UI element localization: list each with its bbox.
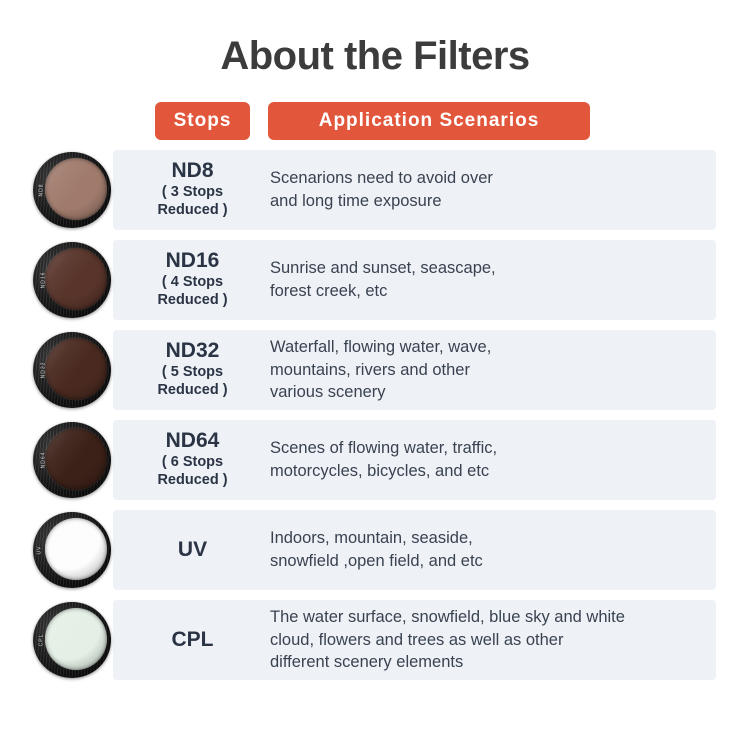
stops-reduction-line-2: Reduced ) — [157, 382, 227, 400]
scenario-line: The water surface, snowfield, blue sky a… — [270, 606, 720, 629]
table-row: ND64ND64( 6 StopsReduced )Scenes of flow… — [0, 420, 750, 500]
scenario-line: Scenarions need to avoid over — [270, 167, 720, 190]
filter-name: UV — [178, 539, 207, 562]
scenario-cell: Scenarions need to avoid overand long ti… — [270, 150, 720, 230]
table-row: ND8ND8( 3 StopsReduced )Scenarions need … — [0, 150, 750, 230]
filter-name: ND32 — [166, 340, 220, 363]
nd64-filter-photo: ND64 — [33, 422, 111, 498]
stops-cell: ND32( 5 StopsReduced ) — [125, 330, 260, 410]
stops-cell: CPL — [125, 600, 260, 680]
header-application-scenarios: Application Scenarios — [268, 102, 590, 140]
stops-reduction-line-2: Reduced ) — [157, 472, 227, 490]
filter-name: ND64 — [166, 430, 220, 453]
scenario-line: snowfield ,open field, and etc — [270, 550, 720, 573]
scenario-cell: Waterfall, flowing water, wave,mountains… — [270, 330, 720, 410]
filter-name: ND8 — [171, 160, 213, 183]
stops-reduction-line-1: ( 6 Stops — [162, 454, 223, 472]
scenario-line: Waterfall, flowing water, wave, — [270, 336, 720, 359]
nd16-filter-photo: ND16 — [33, 242, 111, 318]
scenario-cell: Scenes of flowing water, traffic,motorcy… — [270, 420, 720, 500]
scenario-line: motorcycles, bicycles, and etc — [270, 460, 720, 483]
uv-filter-photo: UV — [33, 512, 111, 588]
filter-ring-engraving: UV — [36, 546, 42, 555]
scenario-line: various scenery — [270, 381, 720, 404]
stops-cell: ND64( 6 StopsReduced ) — [125, 420, 260, 500]
header-stops: Stops — [155, 102, 250, 140]
table-row: ND32ND32( 5 StopsReduced )Waterfall, flo… — [0, 330, 750, 410]
filter-name: ND16 — [166, 250, 220, 273]
stops-reduction-line-1: ( 3 Stops — [162, 184, 223, 202]
scenario-line: Sunrise and sunset, seascape, — [270, 257, 720, 280]
scenario-line: cloud, flowers and trees as well as othe… — [270, 629, 720, 652]
filter-glass — [45, 248, 107, 310]
stops-reduction-line-1: ( 4 Stops — [162, 274, 223, 292]
scenario-line: Indoors, mountain, seaside, — [270, 527, 720, 550]
scenario-line: forest creek, etc — [270, 280, 720, 303]
stops-reduction-line-2: Reduced ) — [157, 292, 227, 310]
filter-name: CPL — [172, 629, 214, 652]
scenario-line: and long time exposure — [270, 190, 720, 213]
stops-reduction-line-2: Reduced ) — [157, 202, 227, 220]
filter-table: ND8ND8( 3 StopsReduced )Scenarions need … — [0, 150, 750, 680]
stops-cell: ND8( 3 StopsReduced ) — [125, 150, 260, 230]
nd8-filter-photo: ND8 — [33, 152, 111, 228]
filter-glass — [45, 608, 107, 670]
cpl-filter-photo: CPL — [33, 602, 111, 678]
table-row: UVUVIndoors, mountain, seaside,snowfield… — [0, 510, 750, 590]
nd32-filter-photo: ND32 — [33, 332, 111, 408]
stops-cell: UV — [125, 510, 260, 590]
filter-glass — [45, 518, 107, 580]
scenario-cell: The water surface, snowfield, blue sky a… — [270, 600, 720, 680]
table-row: CPLCPLThe water surface, snowfield, blue… — [0, 600, 750, 680]
scenario-line: Scenes of flowing water, traffic, — [270, 437, 720, 460]
filter-glass — [45, 338, 107, 400]
filter-glass — [45, 428, 107, 490]
stops-cell: ND16( 4 StopsReduced ) — [125, 240, 260, 320]
filter-glass — [45, 158, 107, 220]
stops-reduction-line-1: ( 5 Stops — [162, 364, 223, 382]
scenario-cell: Sunrise and sunset, seascape,forest cree… — [270, 240, 720, 320]
table-row: ND16ND16( 4 StopsReduced )Sunrise and su… — [0, 240, 750, 320]
filter-ring-engraving: CPL — [38, 634, 44, 647]
scenario-cell: Indoors, mountain, seaside,snowfield ,op… — [270, 510, 720, 590]
page-title: About the Filters — [0, 0, 750, 84]
scenario-line: mountains, rivers and other — [270, 359, 720, 382]
table-header: Stops Application Scenarios — [0, 102, 750, 144]
filter-ring-engraving: ND8 — [39, 183, 45, 196]
scenario-line: different scenery elements — [270, 651, 720, 674]
